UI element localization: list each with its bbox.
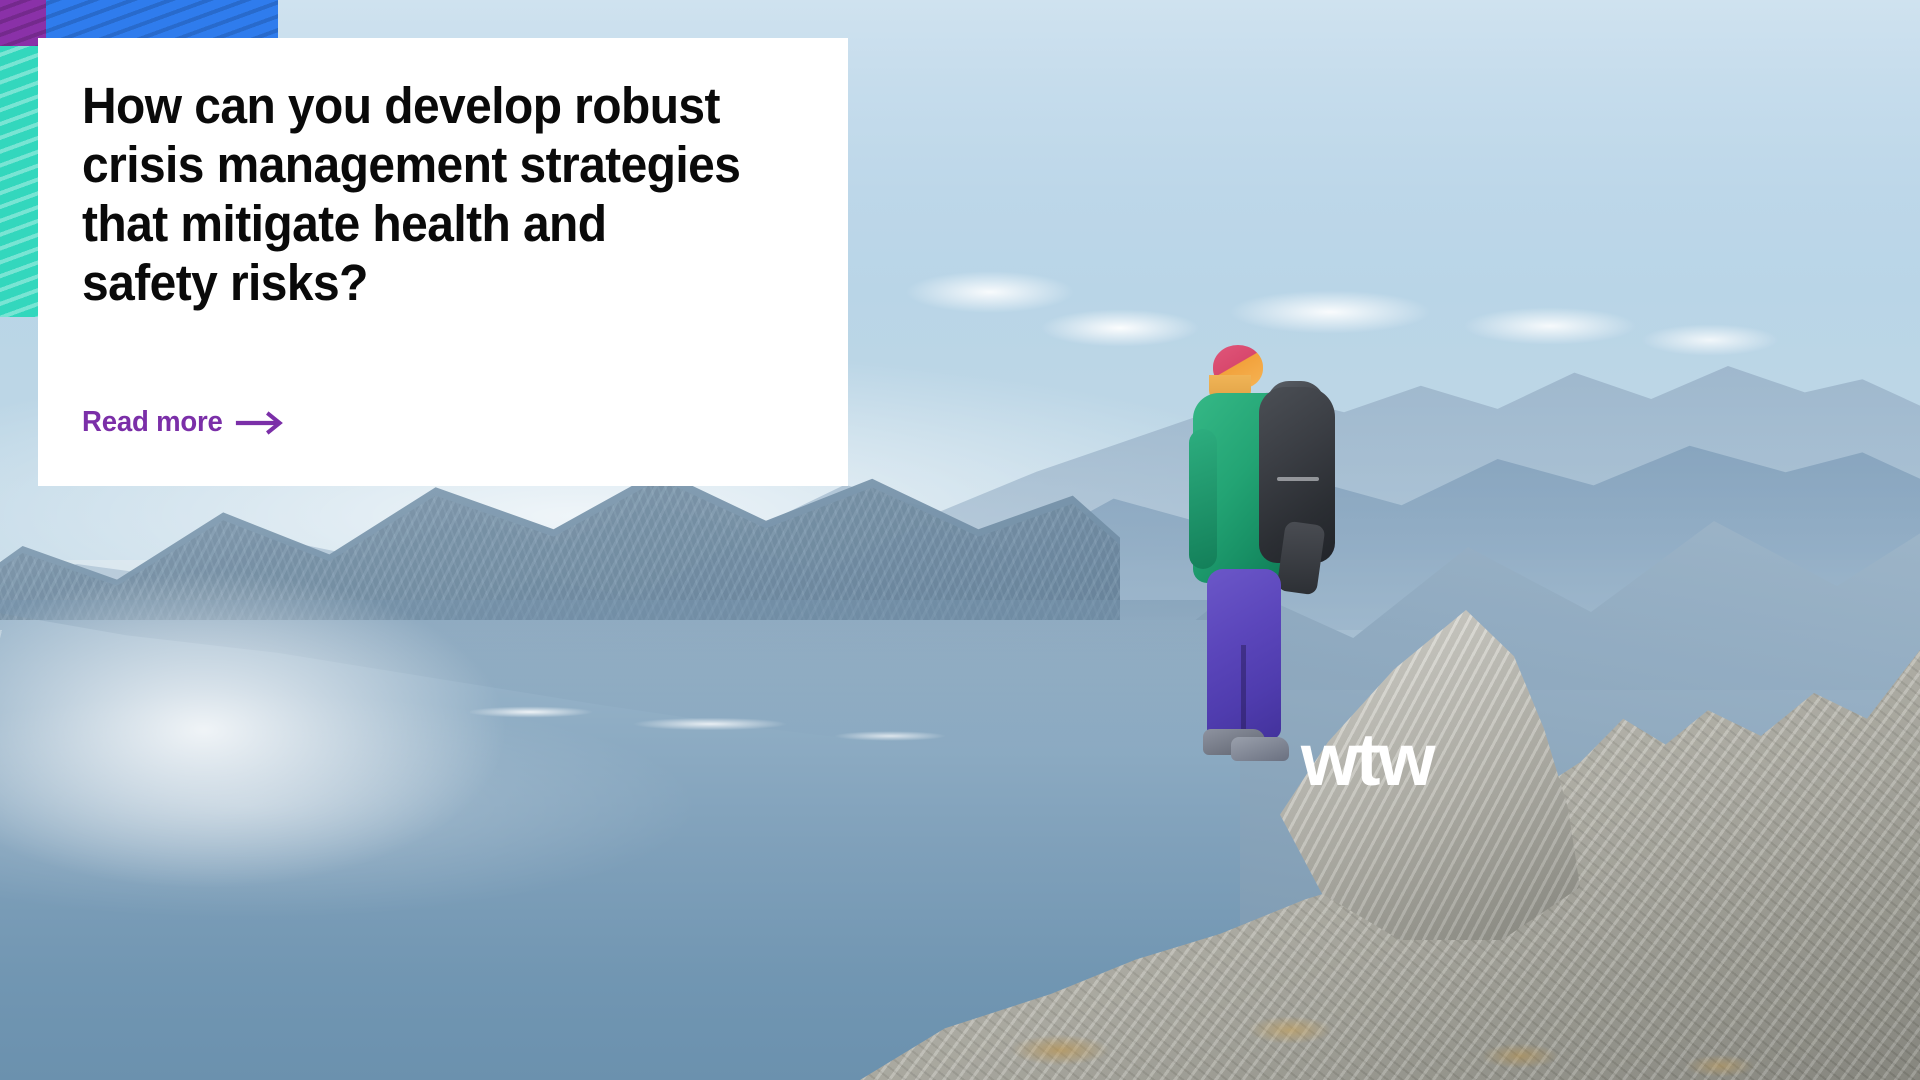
wtw-logo: wtw <box>1262 722 1472 798</box>
hiker-arm <box>1189 429 1217 569</box>
page-title-line-0: How can you develop robust <box>82 76 759 135</box>
read-more-link[interactable]: Read more <box>82 406 284 439</box>
page-title-line-3: safety risks? <box>82 253 759 312</box>
dry-grass-tufts <box>860 880 1920 1080</box>
backpack-lower-strap <box>1276 521 1325 596</box>
valley-mist <box>0 520 660 940</box>
page-title: How can you develop robustcrisis managem… <box>82 76 759 312</box>
snow-cap-right <box>1030 282 1790 402</box>
read-more-label: Read more <box>82 406 223 439</box>
arrow-right-icon <box>235 410 284 436</box>
page-title-line-2: that mitigate health and <box>82 194 759 253</box>
banner-root: How can you develop robustcrisis managem… <box>0 0 1920 1080</box>
backpack-strap-detail <box>1277 477 1319 481</box>
page-title-line-1: crisis management strategies <box>82 135 759 194</box>
content-card: How can you develop robustcrisis managem… <box>38 38 848 486</box>
